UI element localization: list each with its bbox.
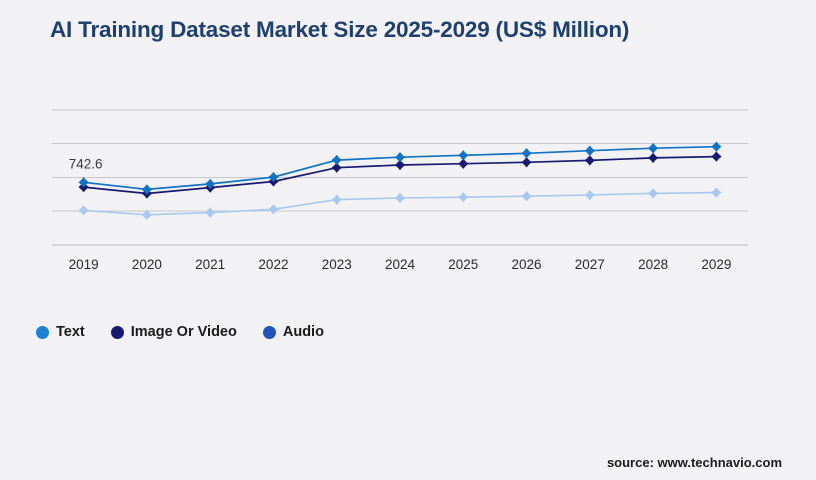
legend-label: Image Or Video [131, 324, 237, 340]
data-point-marker[interactable] [711, 187, 721, 197]
data-point-marker[interactable] [648, 143, 658, 153]
data-point-label: 742.6 [69, 156, 103, 171]
data-point-marker[interactable] [458, 192, 468, 202]
series-layer [78, 141, 721, 220]
data-point-marker[interactable] [332, 155, 342, 165]
x-tick-label: 2019 [69, 257, 99, 272]
x-tick-label: 2027 [575, 257, 605, 272]
x-axis-tick-labels: 2019202020212022202320242025202620272028… [69, 257, 732, 272]
data-point-marker[interactable] [648, 153, 658, 163]
data-point-marker[interactable] [395, 152, 405, 162]
legend-item-text[interactable]: Text [36, 324, 85, 340]
data-point-marker[interactable] [458, 150, 468, 160]
chart-legend: Text Image Or Video Audio [36, 324, 324, 340]
data-point-marker[interactable] [205, 207, 215, 217]
chart-plot-area: 742.6 2019202020212022202320242025202620… [0, 0, 816, 300]
x-tick-label: 2023 [322, 257, 352, 272]
data-point-marker[interactable] [711, 151, 721, 161]
infographic-canvas: AI Training Dataset Market Size 2025-202… [0, 0, 816, 480]
legend-item-audio[interactable]: Audio [263, 324, 324, 340]
x-tick-label: 2028 [638, 257, 668, 272]
data-point-marker[interactable] [78, 205, 88, 215]
data-point-marker[interactable] [332, 194, 342, 204]
x-tick-label: 2022 [258, 257, 288, 272]
circle-marker-icon [36, 326, 49, 339]
data-point-marker[interactable] [585, 155, 595, 165]
line-chart-svg: 742.6 2019202020212022202320242025202620… [0, 0, 816, 300]
circle-marker-icon [111, 326, 124, 339]
gridlines [52, 110, 748, 245]
legend-label: Text [56, 324, 85, 340]
x-tick-label: 2026 [512, 257, 542, 272]
data-point-marker[interactable] [585, 146, 595, 156]
x-tick-label: 2024 [385, 257, 416, 272]
data-point-marker[interactable] [585, 190, 595, 200]
data-point-marker[interactable] [521, 148, 531, 158]
data-point-marker[interactable] [521, 191, 531, 201]
data-point-marker[interactable] [711, 141, 721, 151]
x-tick-label: 2025 [448, 257, 478, 272]
data-point-marker[interactable] [648, 188, 658, 198]
legend-item-image-or-video[interactable]: Image Or Video [111, 324, 237, 340]
x-tick-label: 2020 [132, 257, 162, 272]
x-tick-label: 2021 [195, 257, 225, 272]
data-label-layer: 742.6 [69, 156, 103, 171]
data-point-marker[interactable] [268, 204, 278, 214]
source-attribution: source: www.technavio.com [607, 455, 782, 470]
series-audio [78, 187, 721, 220]
x-tick-label: 2029 [701, 257, 731, 272]
legend-label: Audio [283, 324, 324, 340]
data-point-marker[interactable] [521, 157, 531, 167]
data-point-marker[interactable] [395, 193, 405, 203]
circle-marker-icon [263, 326, 276, 339]
